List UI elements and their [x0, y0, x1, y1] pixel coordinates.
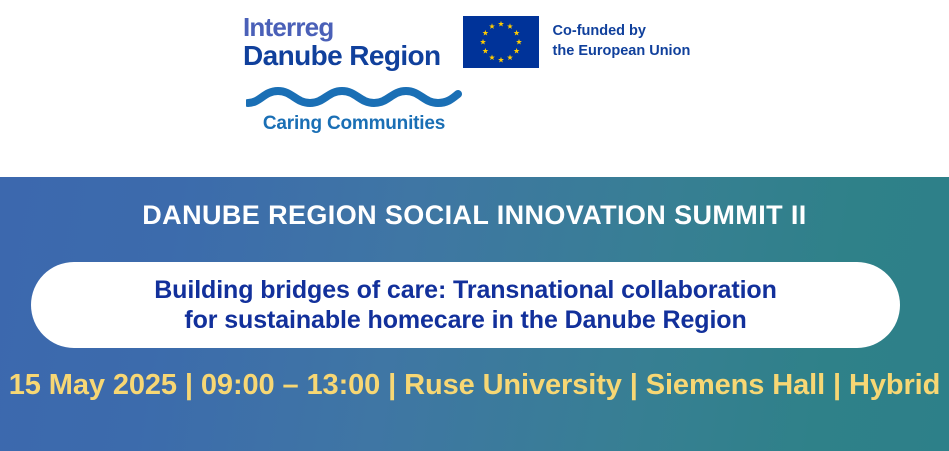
caring-communities-logo: Caring Communities [246, 86, 462, 135]
event-details-line: 15 May 2025 | 09:00 – 13:00 | Ruse Unive… [0, 369, 949, 402]
eu-cofunding-text: Co-funded by the European Union [553, 22, 691, 61]
subtitle-pill: Building bridges of care: Transnational … [31, 262, 900, 348]
eu-cofunding-line2: the European Union [553, 42, 691, 62]
summit-title: DANUBE REGION SOCIAL INNOVATION SUMMIT I… [0, 200, 949, 231]
subtitle-line-1: Building bridges of care: Transnational … [154, 275, 777, 306]
water-wave-icon [246, 86, 462, 110]
eu-cofunding-line1: Co-funded by [553, 22, 691, 42]
logo-row: Interreg Danube Region [243, 14, 690, 70]
subtitle-text: Building bridges of care: Transnational … [120, 275, 811, 336]
interreg-wordmark-line2: Danube Region [243, 42, 441, 70]
event-banner-poster: Interreg Danube Region [0, 0, 949, 451]
interreg-wordmark-line1: Interreg [243, 14, 441, 40]
gradient-banner: DANUBE REGION SOCIAL INNOVATION SUMMIT I… [0, 177, 949, 451]
caring-communities-label: Caring Communities [246, 113, 462, 135]
european-union-flag-icon [463, 16, 539, 68]
eu-cofunding-logo: Co-funded by the European Union [463, 16, 691, 68]
interreg-danube-region-logo: Interreg Danube Region [243, 14, 441, 70]
subtitle-line-2: for sustainable homecare in the Danube R… [154, 305, 777, 336]
logo-header-band: Interreg Danube Region [0, 0, 949, 177]
